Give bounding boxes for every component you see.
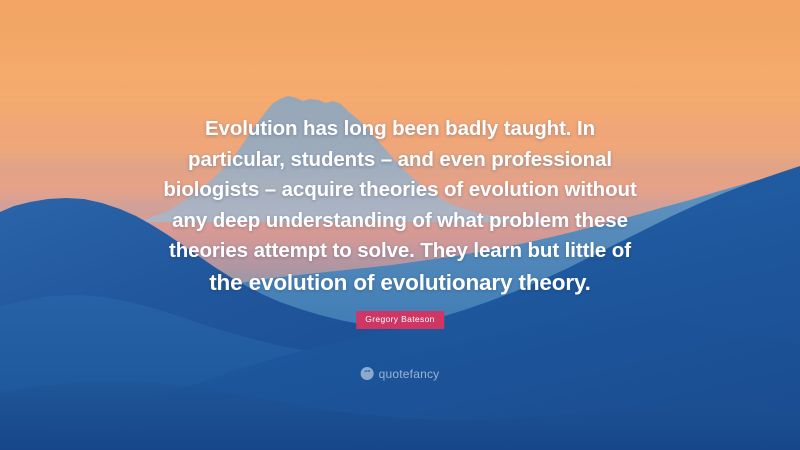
quote-image: Evolution has long been badly taught. In… [0,0,800,450]
watermark-brand: quotefancy [379,368,440,380]
quote-line-4: any deep understanding of what problem t… [0,206,800,237]
quote-line-1: Evolution has long been badly taught. In [0,114,800,145]
quote-mark-icon: “” [361,367,374,380]
quote-line-3: biologists – acquire theories of evoluti… [0,175,800,206]
watermark[interactable]: “” quotefancy [361,367,440,380]
quote-text: Evolution has long been badly taught. In… [0,114,800,299]
quote-line-5: theories attempt to solve. They learn bu… [0,236,800,267]
quote-line-6: the evolution of evolutionary theory. [0,267,800,299]
quote-line-2: particular, students – and even professi… [0,145,800,176]
author-badge[interactable]: Gregory Bateson [356,311,444,329]
